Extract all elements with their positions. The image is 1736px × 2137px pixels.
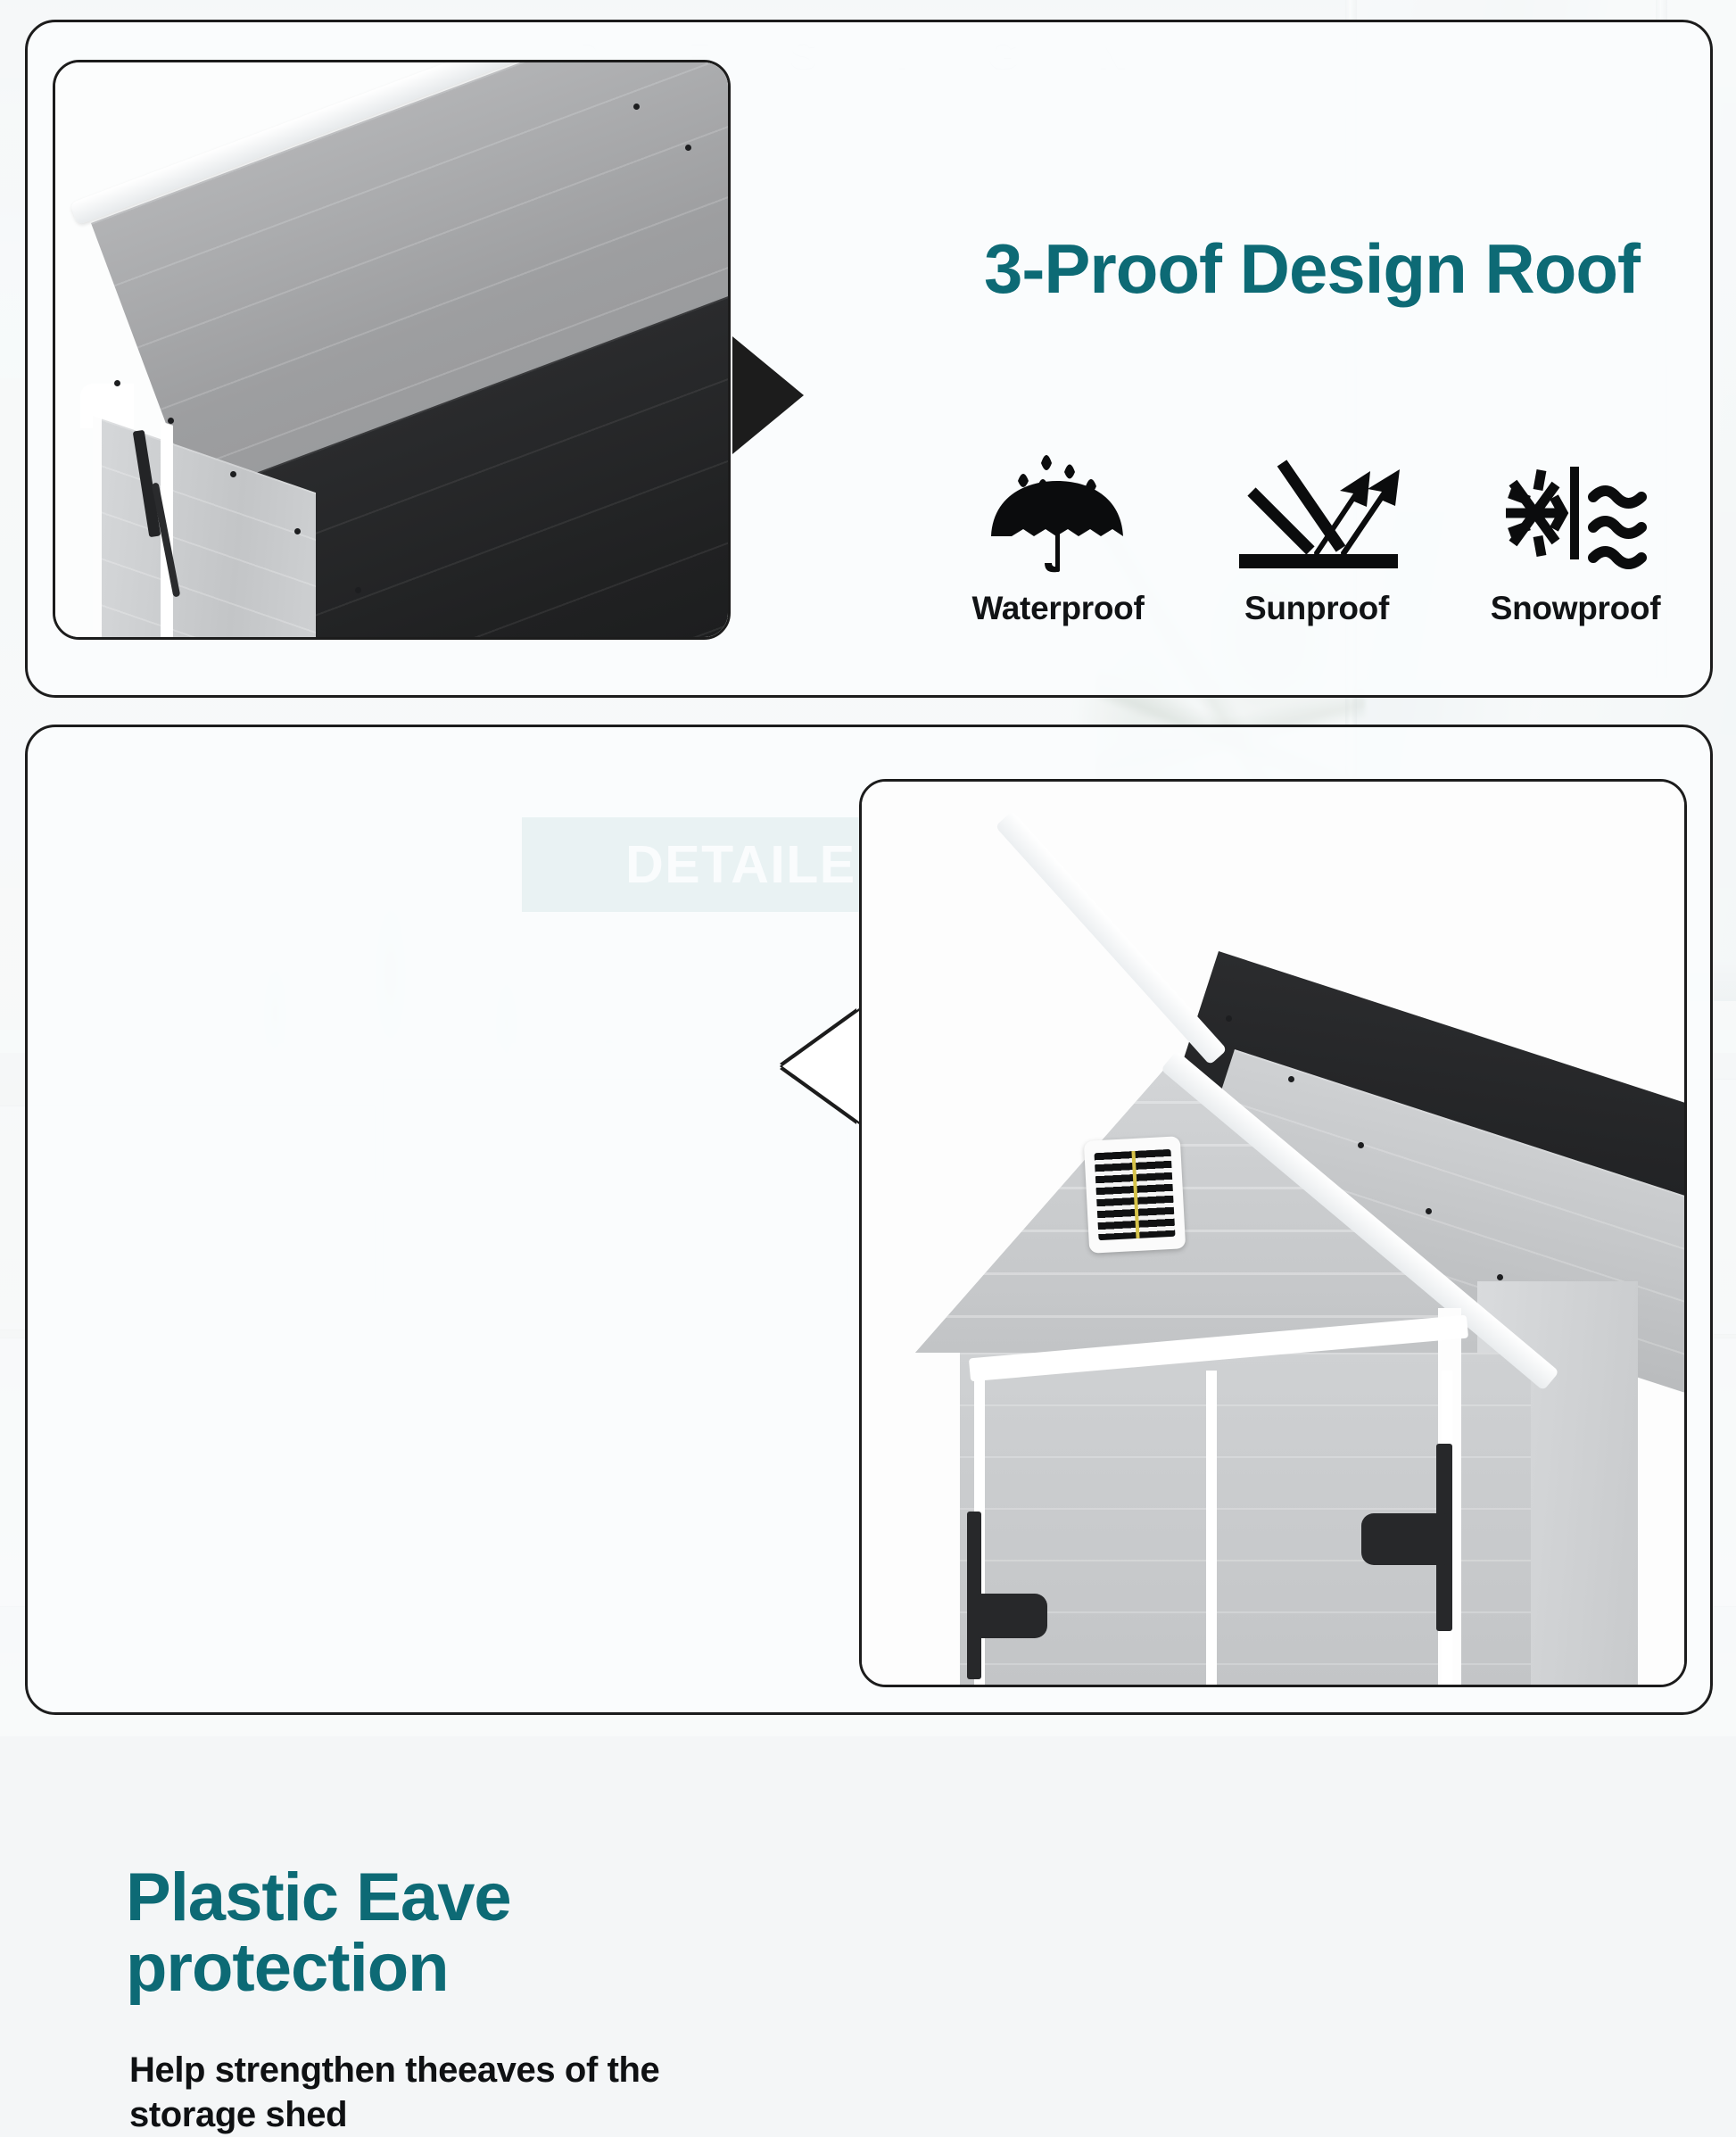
feature-sunproof: Sunproof bbox=[1205, 442, 1428, 627]
top-section-title: 3-Proof Design Roof bbox=[984, 233, 1662, 305]
gable-louver-vent bbox=[1084, 1136, 1186, 1253]
proof-feature-row: Waterproof Sunproof bbox=[947, 442, 1687, 627]
shed-eave-illustration bbox=[862, 782, 1684, 1685]
door-hinge-strap-right bbox=[1361, 1513, 1447, 1565]
shed-eave-photo bbox=[859, 779, 1687, 1687]
feature-waterproof: Waterproof bbox=[947, 442, 1170, 627]
bottom-section-title: Plastic Eave protection bbox=[126, 1862, 715, 2003]
door-stile-center bbox=[1206, 1371, 1217, 1687]
plastic-eave-trim-left bbox=[995, 811, 1227, 1065]
door-hinge-strap-left bbox=[978, 1594, 1047, 1638]
feature-snowproof: Snowproof bbox=[1464, 442, 1687, 627]
feature-label: Waterproof bbox=[947, 590, 1170, 627]
feature-label: Sunproof bbox=[1205, 590, 1428, 627]
sun-reflect-icon bbox=[1205, 442, 1428, 576]
bottom-feature-panel: Plastic Eave protection Help strengthen … bbox=[25, 725, 1713, 1715]
umbrella-rain-icon bbox=[947, 442, 1170, 576]
shed-roof-photo bbox=[53, 60, 731, 640]
callout-arrow-bottom bbox=[782, 1011, 859, 1122]
callout-arrow-top bbox=[732, 336, 804, 454]
bottom-section-subtitle: Help strengthen theeaves of the storage … bbox=[129, 2048, 736, 2137]
feature-label: Snowproof bbox=[1464, 590, 1687, 627]
shed-roof-illustration bbox=[55, 62, 728, 637]
top-feature-panel: 3-Proof Design Roof bbox=[25, 20, 1713, 698]
snowflake-wind-icon bbox=[1464, 442, 1687, 576]
